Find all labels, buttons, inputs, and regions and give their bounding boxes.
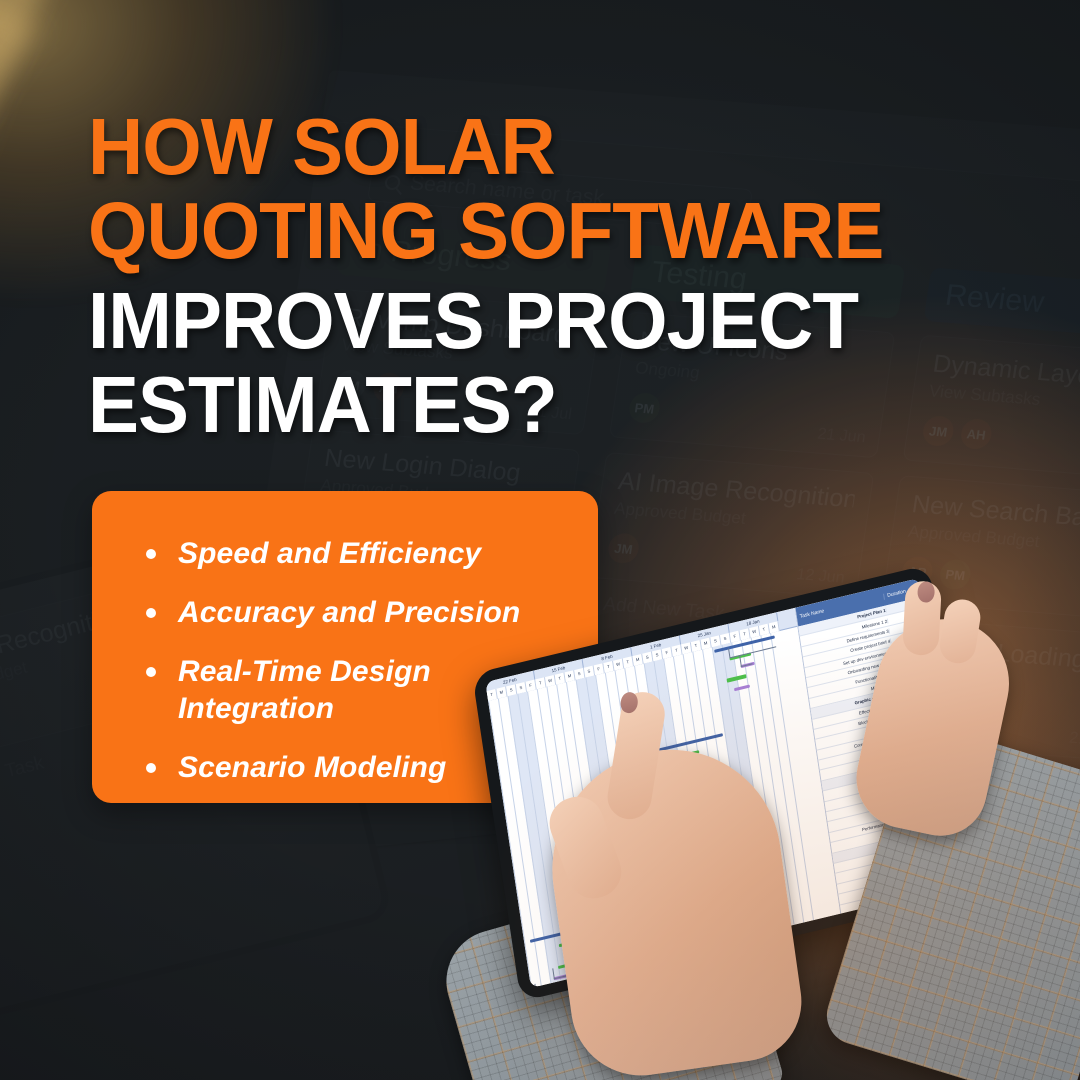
poster-canvas: Search name or task 💡 In Progress Revamp… <box>0 0 1080 1080</box>
headline-line-3: IMPROVES PROJECT <box>88 282 909 360</box>
page-title: HOW SOLAR QUOTING SOFTWARE IMPROVES PROJ… <box>88 108 948 444</box>
finger <box>937 597 983 666</box>
headline-line-1: HOW SOLAR <box>88 108 909 186</box>
list-item: Speed and Efficiency <box>144 535 568 572</box>
headline-line-4: ESTIMATES? <box>88 366 909 444</box>
gantt-bar <box>536 986 562 988</box>
tablet-and-hands: Task Name Duration 1 Project Plan40 days… <box>470 600 1080 1080</box>
headline-line-2: QUOTING SOFTWARE <box>88 192 909 270</box>
